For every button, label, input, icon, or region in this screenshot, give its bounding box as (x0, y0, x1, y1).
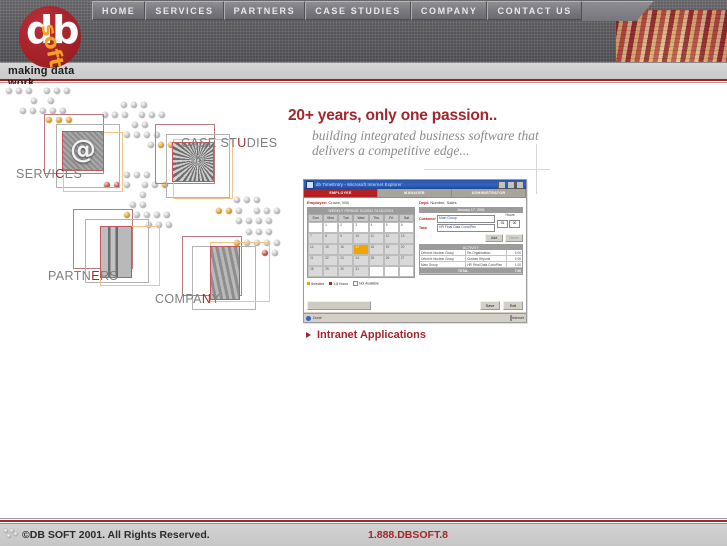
app-window-icon (306, 181, 314, 189)
legend-item-selected: Selected (307, 282, 324, 286)
dept-value: Number, Sales (430, 200, 456, 205)
row-hours: 2.00 (507, 256, 522, 261)
intranet-applications-label: Intranet Applications (317, 329, 426, 341)
customer-select[interactable]: Main Group (437, 215, 495, 223)
calendar-day-3[interactable]: 3 (353, 222, 368, 233)
row-customer: Main Group (420, 262, 466, 267)
label-company-mid: N (202, 292, 211, 306)
app-tab-manager[interactable]: MANAGER (378, 189, 452, 197)
hours-label: Hours (497, 213, 523, 217)
footer-rule-gray (0, 518, 727, 519)
legend-swatch-selected (307, 282, 310, 285)
hours-mm-input[interactable]: 00 (509, 220, 520, 228)
calendar-cell-empty (399, 266, 414, 277)
row-task: Re-Organization (466, 250, 507, 255)
dow-fri: Fri (384, 214, 399, 222)
hours-hh-input[interactable]: 01 (497, 220, 508, 228)
site-header: db soft making data work Home Services P… (0, 0, 727, 84)
calendar-day-27[interactable]: 27 (399, 255, 414, 266)
app-tab-employee[interactable]: EMPLOYEE (304, 189, 378, 197)
services-thumbnail: @ (62, 131, 104, 171)
legend-label-selected: Selected (311, 282, 324, 286)
nav-item-contact-us[interactable]: Contact Us (487, 1, 581, 20)
calendar-widget[interactable]: WEEKLY PERIOD 01/2001 01/31/2001 Sun Mon… (307, 207, 415, 278)
calendar-cell-empty (308, 222, 323, 233)
minimize-icon (498, 181, 506, 189)
status-right-text: Internet (512, 316, 524, 320)
legend-item-unavailable: Not Available (353, 281, 379, 286)
status-left-text: Done (313, 316, 322, 320)
label-partners-pre: PARTN (48, 269, 91, 283)
calendar-day-2[interactable]: 2 (338, 222, 353, 233)
employee-field: Employee: Crowe, Will (307, 200, 415, 205)
submit-timesheet-button[interactable] (307, 301, 371, 310)
close-icon (516, 181, 524, 189)
exit-button[interactable]: Exit (503, 301, 523, 310)
calendar-day-8[interactable]: 8 (323, 233, 338, 244)
calendar-day-18[interactable]: 18 (369, 244, 384, 255)
crosshair-vertical (536, 144, 537, 194)
app-window-controls[interactable] (498, 181, 524, 189)
dept-label: Dept: (419, 200, 429, 205)
triangle-bullet-icon (306, 332, 311, 338)
dow-sun: Sun (308, 214, 323, 222)
activity-table-rows: Ortronix Nuclear GroupRe-Organization4.0… (420, 250, 522, 268)
app-bottom-buttons: Save Exit (307, 301, 523, 310)
calendar-cell-empty (384, 266, 399, 277)
nav-item-services[interactable]: Services (145, 1, 223, 20)
legend-swatch-unavailable (353, 281, 358, 286)
legend-swatch-hours (329, 282, 332, 285)
employee-value: Crowe, Will (328, 200, 348, 205)
calendar-day-15[interactable]: 15 (323, 244, 338, 255)
row-task: HR Final Data Conv/Rec (466, 262, 507, 267)
save-button[interactable]: Save (480, 301, 500, 310)
dept-field: Dept: Number, Sales (419, 200, 457, 205)
montage-label-case-studies: CASE STUDIES (181, 136, 278, 150)
calendar-day-6[interactable]: 6 (399, 222, 414, 233)
calendar-day-28[interactable]: 28 (308, 266, 323, 277)
calendar-day-14[interactable]: 14 (308, 244, 323, 255)
label-company-post: Y (211, 292, 220, 306)
task-select[interactable]: HR Final Data Conv/Rec (437, 224, 495, 232)
app-tabstrip: EMPLOYEE MANAGER ADMINISTRATOR (304, 189, 526, 198)
label-case-studies-pre: CASE ST (181, 136, 237, 150)
label-services-mid: C (55, 167, 64, 181)
header-red-rule (0, 79, 727, 81)
montage-label-partners: PARTNERS (48, 269, 118, 283)
feature-montage: @ SERVICES CASE STUDIES PARTNERS (0, 84, 292, 329)
label-services-pre: SERVI (16, 167, 55, 181)
dow-sat: Sat (399, 214, 414, 222)
calendar-day-12[interactable]: 12 (384, 233, 399, 244)
app-body: Employee: Crowe, Will Dept: Number, Sale… (304, 198, 526, 312)
label-partners-mid: E (91, 269, 100, 283)
at-symbol-icon: @ (70, 135, 96, 165)
dow-mon: Mon (323, 214, 338, 222)
calendar-day-22[interactable]: 22 (323, 255, 338, 266)
calendar-day-25[interactable]: 25 (369, 255, 384, 266)
calendar-day-13[interactable]: 13 (399, 233, 414, 244)
legend-label-hours: 1-8 Hours (333, 282, 348, 286)
main-content: @ SERVICES CASE STUDIES PARTNERS (0, 84, 727, 518)
calendar-day-23[interactable]: 23 (338, 255, 353, 266)
site-logo[interactable]: db soft making data work (8, 2, 96, 78)
calendar-day-29[interactable]: 29 (323, 266, 338, 277)
employee-label: Employee: (307, 200, 327, 205)
activity-table: ACTIVITY Ortronix Nuclear GroupRe-Organi… (419, 244, 523, 275)
calendar-day-11[interactable]: 11 (369, 233, 384, 244)
calendar-day-4[interactable]: 4 (369, 222, 384, 233)
total-value: 7.00 (506, 268, 522, 273)
crosshair-horizontal (424, 169, 550, 170)
calendar-day-31[interactable]: 31 (353, 266, 368, 277)
label-partners-post: RS (100, 269, 118, 283)
calendar-day-20[interactable]: 20 (399, 244, 414, 255)
task-label: Task (419, 226, 435, 230)
app-employee-row: Employee: Crowe, Will Dept: Number, Sale… (307, 200, 523, 205)
calendar-day-16[interactable]: 16 (338, 244, 353, 255)
add-button[interactable]: Add (485, 234, 503, 242)
dow-wed: Wed (353, 214, 368, 222)
footer-copyright: ©DB SOFT 2001. All Rights Reserved. (22, 529, 210, 541)
dow-tue: Tue (338, 214, 353, 222)
montage-label-company: COMPANY (155, 292, 220, 306)
row-hours: 1.00 (507, 262, 522, 267)
calendar-day-1[interactable]: 1 (323, 222, 338, 233)
delete-button[interactable]: Delete (505, 234, 523, 242)
footer-phone: 1.888.DBSOFT.8 (368, 529, 448, 541)
calendar-legend: Selected 1-8 Hours Not Available (307, 281, 523, 286)
calendar-grid[interactable]: 1234567891011121314151617181920212223242… (308, 222, 414, 277)
calendar-day-7[interactable]: 7 (308, 233, 323, 244)
row-customer: Ortronix Nuclear Group (420, 256, 466, 261)
entry-buttons: Add Delete (419, 234, 523, 242)
calendar-day-10[interactable]: 10 (353, 233, 368, 244)
header-light-band (0, 62, 727, 80)
app-tab-administrator[interactable]: ADMINISTRATOR (452, 189, 526, 197)
calendar-cell-empty (369, 266, 384, 277)
customer-field-row: Customer Main Group (419, 215, 495, 223)
customer-label: Customer (419, 217, 435, 221)
entry-pane: January 17, 2001 Customer Main Group Tas… (419, 207, 523, 278)
nav-tail-decoration (582, 1, 654, 21)
label-case-studies-post: DIES (247, 136, 278, 150)
main-navigation: Home Services Partners Case Studies Comp… (92, 1, 654, 20)
row-customer: Ortronix Nuclear Group (420, 250, 466, 255)
nav-item-company[interactable]: Company (411, 1, 488, 20)
app-titlebar: db TimeEntry - Microsoft Internet Explor… (304, 180, 526, 189)
row-task: Custom Reports (466, 256, 507, 261)
label-company-pre: COMPA (155, 292, 202, 306)
status-right-wrap: Internet (510, 316, 524, 320)
site-footer: ©DB SOFT 2001. All Rights Reserved. 1.88… (0, 518, 727, 545)
calendar-day-21[interactable]: 21 (308, 255, 323, 266)
legend-item-hours: 1-8 Hours (329, 282, 348, 286)
nav-item-case-studies[interactable]: Case Studies (305, 1, 411, 20)
logo-tagline: making data work (8, 65, 96, 84)
task-field-row: Task HR Final Data Conv/Rec (419, 224, 495, 232)
calendar-day-26[interactable]: 26 (384, 255, 399, 266)
dow-thu: Thu (369, 214, 384, 222)
status-globe-icon (306, 316, 311, 321)
calendar-day-30[interactable]: 30 (338, 266, 353, 277)
row-hours: 4.00 (507, 250, 522, 255)
footer-rule-red (0, 520, 727, 522)
app-columns: WEEKLY PERIOD 01/2001 01/31/2001 Sun Mon… (307, 207, 523, 278)
calendar-day-17[interactable]: 17 (353, 244, 368, 255)
nav-item-home[interactable]: Home (92, 1, 145, 20)
hours-inputs: 01 00 (497, 220, 523, 228)
app-window-title: db TimeEntry - Microsoft Internet Explor… (316, 182, 496, 187)
application-screenshot[interactable]: db TimeEntry - Microsoft Internet Explor… (303, 179, 527, 323)
app-action-buttons: Save Exit (480, 301, 523, 310)
label-case-studies-mid: U (237, 136, 246, 150)
montage-label-services: SERVICES (16, 167, 82, 181)
page-headline: 20+ years, only one passion.. (288, 107, 497, 125)
app-statusbar: Done Internet (304, 313, 526, 322)
calendar-day-9[interactable]: 9 (338, 233, 353, 244)
total-label: TOTAL (420, 268, 506, 273)
calendar-day-5[interactable]: 5 (384, 222, 399, 233)
header-red-rule-light (0, 82, 727, 83)
activity-total-row: TOTAL 7.00 (420, 268, 522, 274)
calendar-day-headers: Sun Mon Tue Wed Thu Fri Sat (308, 214, 414, 222)
legend-label-unavailable: Not Available (359, 281, 379, 285)
nav-item-partners[interactable]: Partners (224, 1, 306, 20)
intranet-applications-link[interactable]: Intranet Applications (306, 329, 426, 341)
label-services-post: ES (65, 167, 82, 181)
calendar-day-24[interactable]: 24 (353, 255, 368, 266)
calendar-day-19[interactable]: 19 (384, 244, 399, 255)
maximize-icon (507, 181, 515, 189)
